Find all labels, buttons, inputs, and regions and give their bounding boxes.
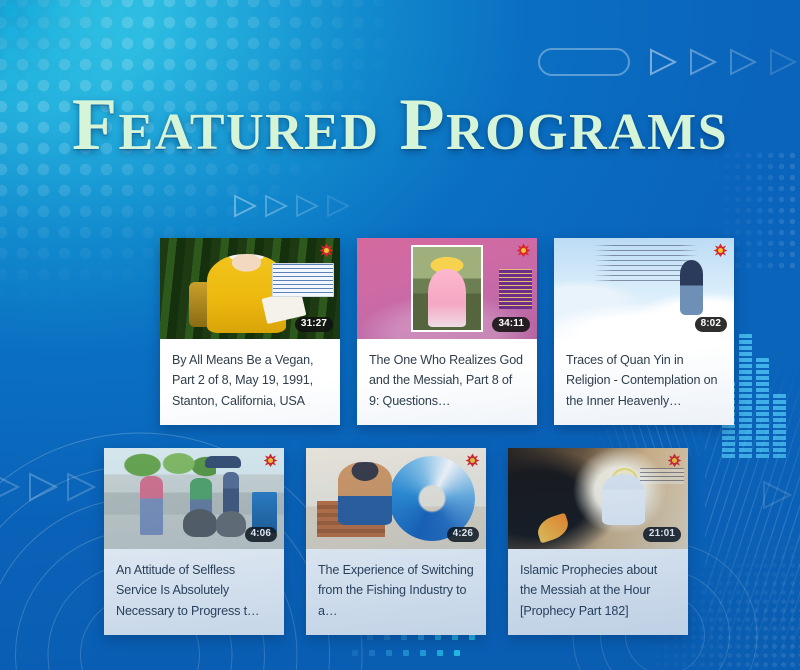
supreme-master-logo-icon [666, 452, 683, 468]
supreme-master-logo-icon [262, 452, 279, 468]
square-dots-row [352, 650, 460, 656]
program-title[interactable]: Islamic Prophecies about the Messiah at … [508, 549, 688, 635]
duration-badge: 8:02 [695, 317, 727, 332]
duration-badge: 4:06 [245, 527, 277, 542]
play-triangle-icon [0, 470, 22, 504]
play-triangle-icon [232, 193, 258, 219]
play-triangle-icon [294, 193, 320, 219]
capsule-outline-icon [538, 48, 630, 76]
thumbnail-title-overlay [272, 263, 334, 297]
program-card[interactable]: 8:02 Traces of Quan Yin in Religion - Co… [554, 238, 734, 425]
play-triangle-icon [760, 478, 794, 512]
program-card[interactable]: 21:01 Islamic Prophecies about the Messi… [508, 448, 688, 635]
program-title[interactable]: The One Who Realizes God and the Messiah… [357, 339, 537, 425]
play-triangle-icon [64, 470, 98, 504]
program-title[interactable]: The Experience of Switching from the Fis… [306, 549, 486, 635]
page-title: Featured Programs [0, 88, 800, 162]
supreme-master-logo-icon [464, 452, 481, 468]
supreme-master-logo-icon [318, 242, 335, 258]
program-thumbnail[interactable]: 8:02 [554, 238, 734, 339]
program-title[interactable]: Traces of Quan Yin in Religion - Contemp… [554, 339, 734, 425]
play-triangle-icon [768, 47, 798, 77]
program-card[interactable]: 4:06 An Attitude of Selfless Service Is … [104, 448, 284, 635]
program-thumbnail[interactable]: 31:27 [160, 238, 340, 339]
program-card[interactable]: 31:27 By All Means Be a Vegan, Part 2 of… [160, 238, 340, 425]
duration-badge: 31:27 [295, 317, 333, 332]
play-triangle-icon [325, 193, 351, 219]
supreme-master-logo-icon [712, 242, 729, 258]
program-title[interactable]: An Attitude of Selfless Service Is Absol… [104, 549, 284, 635]
program-title[interactable]: By All Means Be a Vegan, Part 2 of 8, Ma… [160, 339, 340, 425]
duration-badge: 4:26 [447, 527, 479, 542]
program-row-2: 4:06 An Attitude of Selfless Service Is … [104, 448, 688, 635]
play-triangle-icon [728, 47, 758, 77]
program-thumbnail[interactable]: 34:11 [357, 238, 537, 339]
play-triangle-icon [688, 47, 718, 77]
featured-programs-banner: Featured Programs 31:27 By All Means Be … [0, 0, 800, 670]
thumbnail-title-overlay [499, 269, 532, 309]
program-card[interactable]: 4:26 The Experience of Switching from th… [306, 448, 486, 635]
play-triangle-icon [648, 47, 678, 77]
play-triangle-icon [263, 193, 289, 219]
program-thumbnail[interactable]: 21:01 [508, 448, 688, 549]
program-card[interactable]: 34:11 The One Who Realizes God and the M… [357, 238, 537, 425]
program-thumbnail[interactable]: 4:26 [306, 448, 486, 549]
supreme-master-logo-icon [515, 242, 532, 258]
duration-badge: 21:01 [643, 527, 681, 542]
duration-badge: 34:11 [492, 317, 530, 332]
thumbnail-title-overlay [640, 468, 684, 484]
program-thumbnail[interactable]: 4:06 [104, 448, 284, 549]
program-row-1: 31:27 By All Means Be a Vegan, Part 2 of… [160, 238, 734, 425]
play-triangle-icon [26, 470, 60, 504]
